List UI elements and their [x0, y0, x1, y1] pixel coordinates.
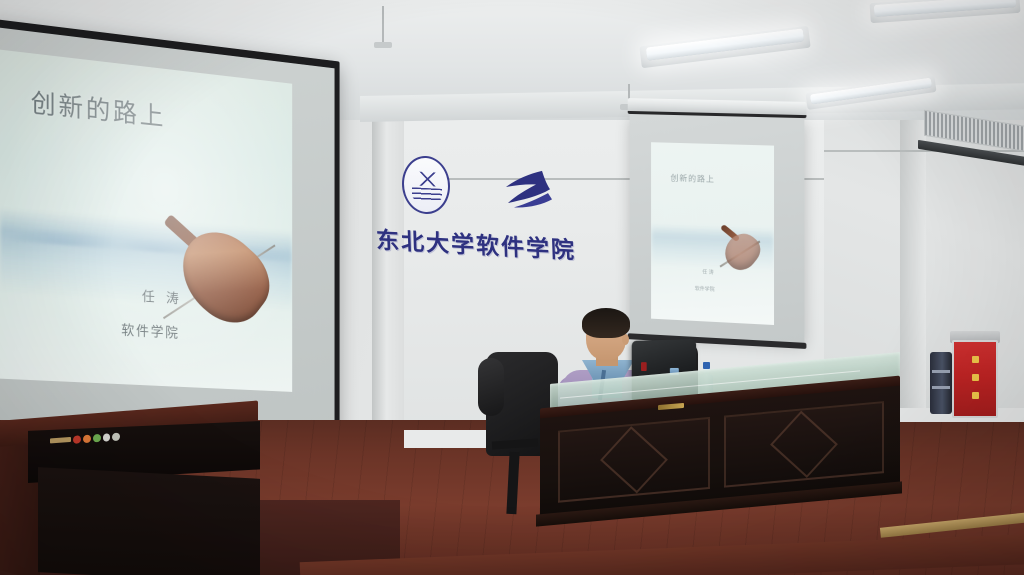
seal-waves-motif: [412, 187, 442, 203]
control-button-orange[interactable]: [83, 434, 91, 443]
office-chair-left-wing: [478, 358, 504, 416]
screen-hanger-rod-left: [382, 6, 384, 46]
cabinet-marking: [972, 392, 979, 399]
main-projection-screen: 创新的路上 任 涛 软件学院: [0, 18, 340, 445]
control-indicator-bar[interactable]: [50, 437, 71, 443]
secondary-slide-title: 创新的路上: [670, 173, 714, 185]
wall-branding: 东北大学软件学院: [376, 152, 596, 282]
conference-desk: [530, 368, 900, 528]
case-stripe: [932, 370, 950, 373]
wall-text-label: 东北大学软件学院: [375, 221, 576, 266]
secondary-violin-illustration: [718, 215, 763, 281]
main-slide-title: 创新的路上: [31, 83, 166, 134]
screen-bracket-left: [374, 42, 392, 48]
desk-diamond-motif: [600, 426, 668, 493]
podium-lectern: [0, 405, 280, 575]
desk-panel-right: [724, 401, 884, 488]
case-stripe: [932, 386, 950, 389]
violin-illustration: [157, 195, 282, 342]
university-seal-icon: [402, 155, 450, 216]
main-slide-org: 软件学院: [121, 320, 179, 343]
main-slide: 创新的路上 任 涛 软件学院: [0, 50, 292, 392]
screen-surface: 创新的路上 任 涛 软件学院: [630, 114, 805, 343]
fire-equipment-cabinet: [952, 340, 998, 418]
violin-body: [718, 227, 766, 276]
control-button-grey[interactable]: [112, 432, 120, 441]
lectern-body: [38, 467, 260, 575]
control-button-white[interactable]: [103, 433, 111, 442]
lecture-hall-photo: 东北大学软件学院 创新的路上 任 涛 软件学院 创新的: [0, 0, 1024, 575]
cabinet-marking: [972, 356, 979, 363]
seal-mountain-motif: [414, 171, 440, 186]
swoosh-logo-icon: [498, 165, 554, 214]
control-button-red[interactable]: [73, 435, 81, 444]
main-slide-author: 任 涛: [142, 286, 182, 308]
cabinet-marking: [972, 374, 979, 381]
equipment-case: [930, 352, 952, 414]
secondary-slide-author: 任 涛: [702, 268, 713, 276]
control-button-green[interactable]: [93, 433, 101, 442]
presenter-hair: [582, 308, 630, 338]
desk-diamond-motif: [770, 411, 838, 478]
secondary-slide-org: 软件学院: [695, 285, 715, 293]
secondary-slide: 创新的路上 任 涛 软件学院: [651, 142, 774, 325]
desk-panel-left: [558, 417, 710, 503]
cabinet-body: [952, 340, 998, 418]
